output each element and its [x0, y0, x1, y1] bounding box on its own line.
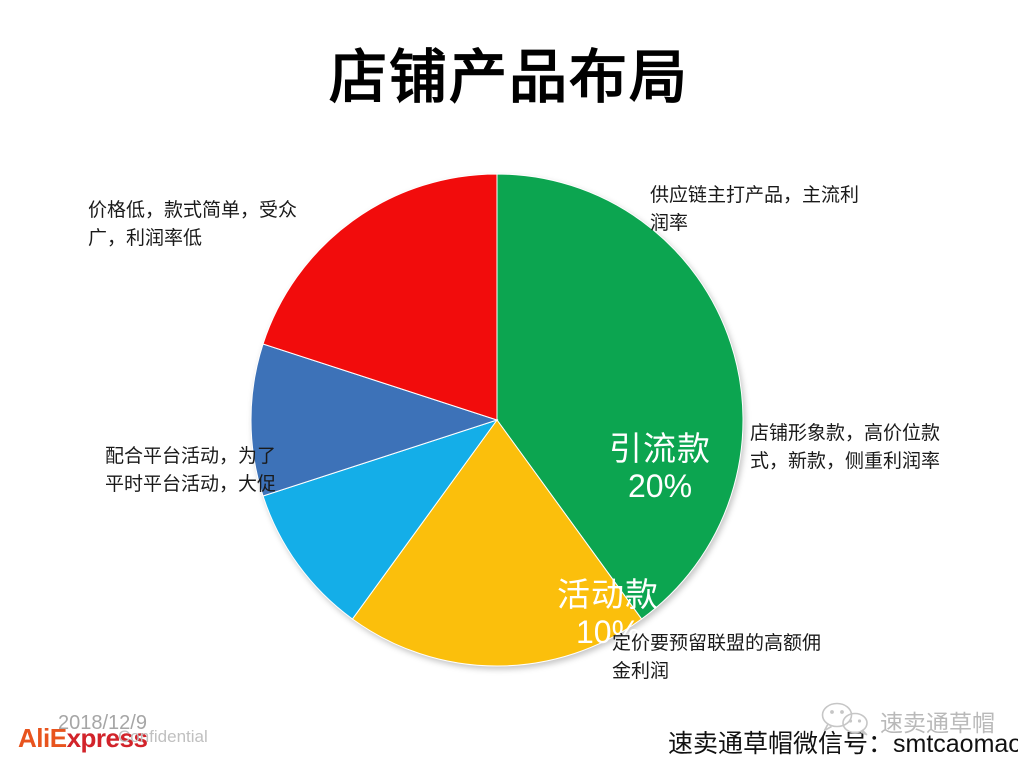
- pie-chart-svg: [250, 173, 744, 667]
- page-title: 店铺产品布局: [0, 46, 1018, 110]
- annotation-huodong: 配合平台活动，为了平时平台活动，大促: [105, 443, 280, 498]
- slide-canvas: 店铺产品布局 主打款 40% 利润款 20% 联盟款 10% 活动款 10% 引…: [0, 0, 1018, 762]
- watermark: 速卖通草帽: [818, 700, 1018, 738]
- pie-slice-label-lirun: 利润款 20%: [808, 569, 968, 641]
- annotation-zhuda: 供应链主打产品，主流利润率: [650, 182, 860, 237]
- annotation-yinliu: 价格低，款式简单，受众广，利润率低: [88, 197, 303, 252]
- pie-slice-percent-lirun: 20%: [808, 607, 968, 642]
- footer-confidential-label: Confidential: [118, 727, 208, 747]
- wechat-icon: [818, 702, 872, 736]
- watermark-text: 速卖通草帽: [880, 704, 995, 738]
- annotation-lirun: 店铺形象款，高价位款式，新款，侧重利润率: [750, 420, 965, 475]
- annotation-lianmeng: 定价要预留联盟的高额佣金利润: [612, 630, 827, 685]
- pie-slice-name-lirun: 利润款: [808, 569, 968, 605]
- pie-chart: 主打款 40% 利润款 20% 联盟款 10% 活动款 10% 引流款 20%: [250, 173, 744, 667]
- pie-slice-group: [251, 174, 743, 666]
